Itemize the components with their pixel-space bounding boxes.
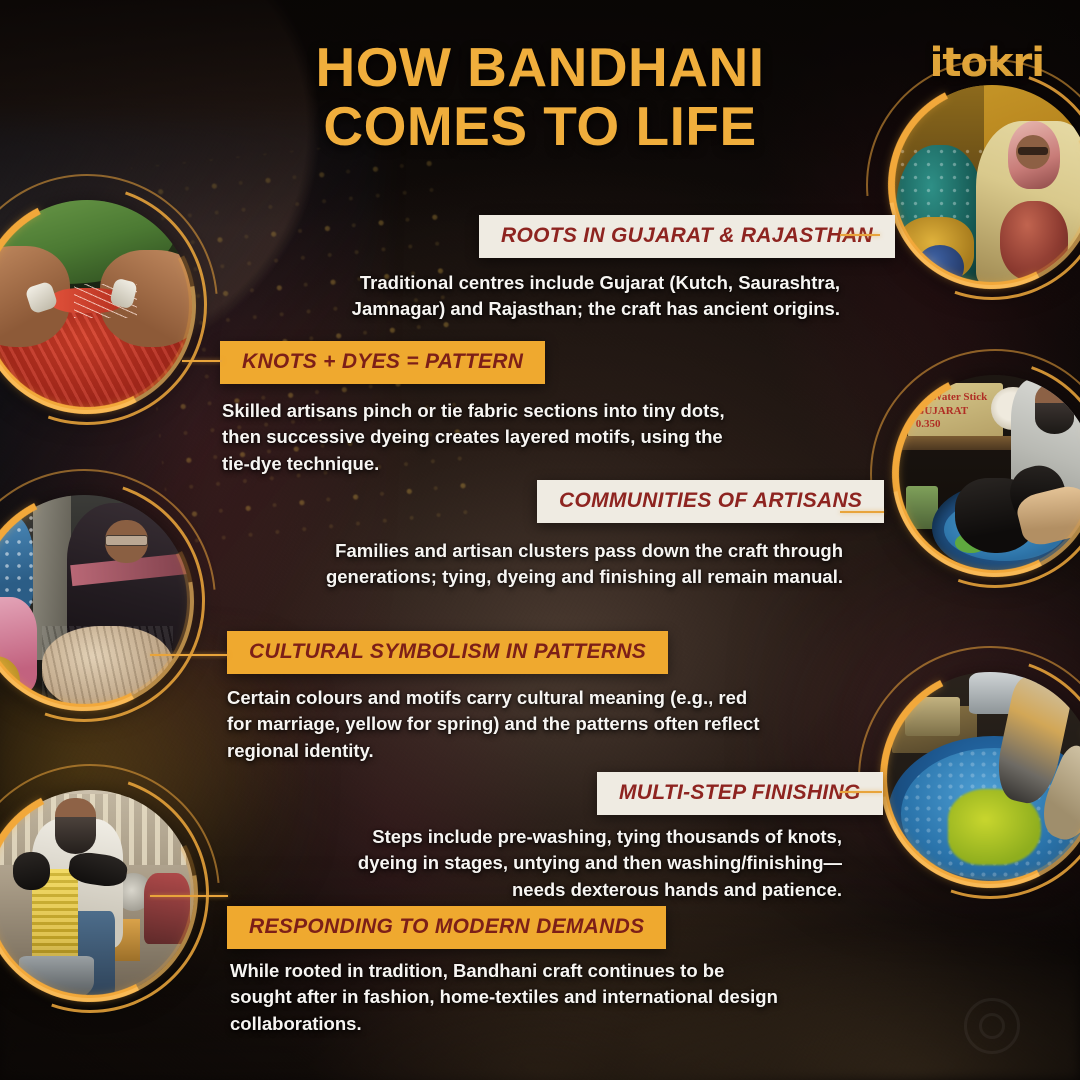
- photo-blue-dye-vat: [884, 672, 1080, 884]
- watermark-circle: [964, 998, 1020, 1054]
- section-heading-roots-in-gujarat-rajasthan[interactable]: ROOTS IN GUJARAT & RAJASTHAN: [479, 215, 895, 258]
- photo-5-artwork: [884, 672, 1080, 884]
- section-body-cultural-symbolism-in-patterns: Certain colours and motifs carry cultura…: [227, 685, 767, 764]
- photo-4-artwork: y.y Water Stick GUJARAT 0.350: [896, 375, 1080, 573]
- photo-3-artwork: [0, 495, 190, 707]
- connector-line-3: [840, 511, 884, 513]
- connector-line-2: [182, 360, 222, 362]
- photo-6-artwork: [0, 790, 194, 998]
- section-heading-knots-dyes-pattern[interactable]: KNOTS + DYES = PATTERN: [220, 341, 545, 384]
- photo-artisan-lifting-yellow-skeins: [0, 790, 194, 998]
- section-heading-responding-to-modern-demands[interactable]: RESPONDING TO MODERN DEMANDS: [227, 906, 666, 949]
- section-body-multi-step-finishing: Steps include pre-washing, tying thousan…: [320, 824, 842, 903]
- section-body-responding-to-modern-demands: While rooted in tradition, Bandhani craf…: [230, 958, 778, 1037]
- section-body-communities-of-artisans: Families and artisan clusters pass down …: [240, 538, 843, 591]
- photo-4-signboard-text: y.y Water Stick GUJARAT 0.350: [916, 391, 995, 432]
- photo-elderly-woman-tying: [0, 495, 190, 707]
- infographic-poster: HOW BANDHANI COMES TO LIFE itokri: [0, 0, 1080, 1080]
- connector-line-6: [150, 895, 228, 897]
- photo-two-women-tying-knots: [892, 85, 1080, 285]
- section-heading-cultural-symbolism-in-patterns[interactable]: CULTURAL SYMBOLISM IN PATTERNS: [227, 631, 668, 674]
- photo-artisan-dyeing-in-tub: y.y Water Stick GUJARAT 0.350: [896, 375, 1080, 573]
- connector-line-4: [150, 654, 228, 656]
- section-heading-communities-of-artisans[interactable]: COMMUNITIES OF ARTISANS: [537, 480, 884, 523]
- brand-logo[interactable]: itokri: [930, 40, 1044, 86]
- section-heading-multi-step-finishing[interactable]: MULTI-STEP FINISHING: [597, 772, 883, 815]
- connector-line-5: [840, 791, 882, 793]
- section-body-roots-in-gujarat-rajasthan: Traditional centres include Gujarat (Kut…: [280, 270, 840, 323]
- section-body-knots-dyes-pattern: Skilled artisans pinch or tie fabric sec…: [222, 398, 742, 477]
- photo-hands-tying-red-fabric: [0, 200, 192, 410]
- connector-line-1: [840, 234, 880, 236]
- photo-2-artwork: [0, 200, 192, 410]
- photo-1-artwork: [892, 85, 1080, 285]
